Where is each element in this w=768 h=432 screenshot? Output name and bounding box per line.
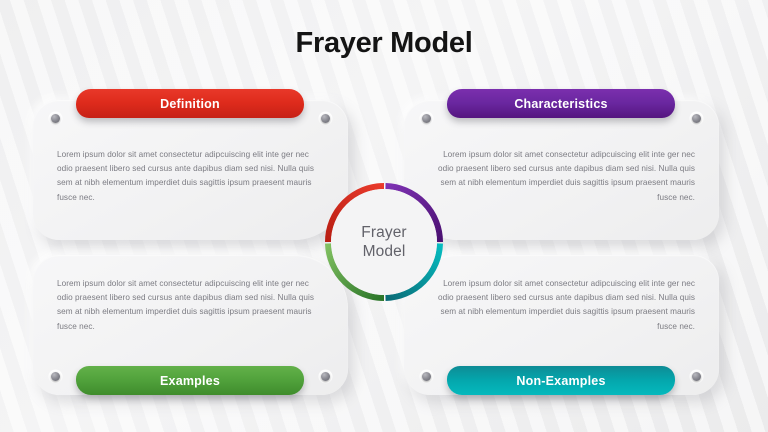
quadrant-header-characteristics[interactable]: Characteristics (447, 89, 675, 118)
center-hub: Frayer Model (318, 176, 450, 308)
screw-icon (692, 372, 701, 381)
quadrant-body-examples: Lorem ipsum dolor sit amet consectetur a… (57, 277, 315, 334)
center-label-line2: Model (363, 242, 406, 261)
quadrant-body-characteristics: Lorem ipsum dolor sit amet consectetur a… (437, 148, 695, 205)
screw-icon (692, 114, 701, 123)
center-label-wrap: Frayer Model (331, 189, 437, 295)
screw-icon (422, 114, 431, 123)
page-title: Frayer Model (0, 27, 768, 60)
screw-icon (51, 372, 60, 381)
quadrant-body-non-examples: Lorem ipsum dolor sit amet consectetur a… (437, 277, 695, 334)
quadrant-label-definition: Definition (160, 97, 220, 111)
quadrant-header-non-examples[interactable]: Non-Examples (447, 366, 675, 395)
screw-icon (422, 372, 431, 381)
screw-icon (321, 114, 330, 123)
quadrant-header-examples[interactable]: Examples (76, 366, 304, 395)
screw-icon (321, 372, 330, 381)
quadrant-card-characteristics[interactable]: Lorem ipsum dolor sit amet consectetur a… (404, 100, 719, 240)
slide-canvas: Frayer Model Lorem ipsum dolor sit amet … (0, 0, 768, 432)
center-label-line1: Frayer (361, 223, 406, 242)
quadrant-card-definition[interactable]: Lorem ipsum dolor sit amet consectetur a… (33, 100, 348, 240)
screw-icon (51, 114, 60, 123)
quadrant-label-non-examples: Non-Examples (516, 374, 605, 388)
quadrant-label-examples: Examples (160, 374, 220, 388)
quadrant-header-definition[interactable]: Definition (76, 89, 304, 118)
quadrant-label-characteristics: Characteristics (514, 97, 607, 111)
quadrant-body-definition: Lorem ipsum dolor sit amet consectetur a… (57, 148, 315, 205)
